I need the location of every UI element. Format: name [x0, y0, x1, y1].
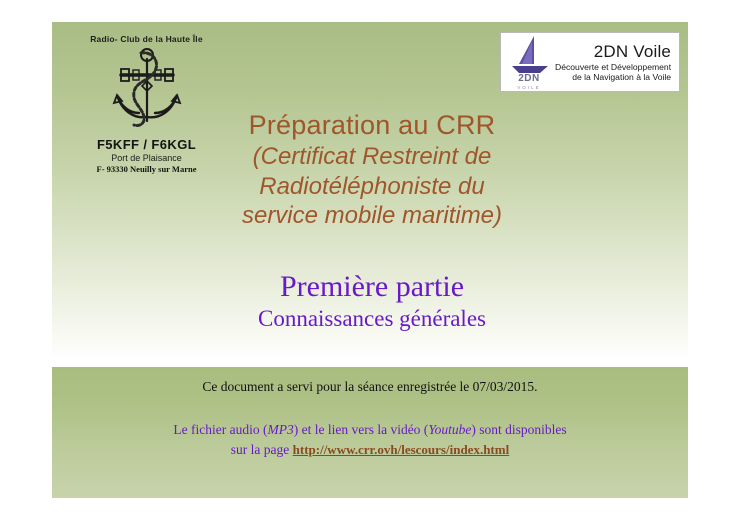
subtitle-part: Première partie — [162, 270, 582, 303]
title-line-1: Préparation au CRR — [172, 110, 572, 141]
availability-mid: ) et le lien vers la vidéo ( — [294, 422, 429, 437]
title-line-4: service mobile maritime) — [172, 201, 572, 230]
subtitle-topic: Connaissances générales — [162, 305, 582, 333]
availability-youtube: Youtube — [428, 422, 471, 437]
course-page-link[interactable]: http://www.crr.ovh/lescours/index.html — [293, 442, 510, 457]
partner-tagline-2: de la Navigation à la Voile — [555, 72, 671, 82]
lower-panel: Ce document a servi pour la séance enreg… — [52, 367, 688, 498]
slide-canvas: Radio- Club de la Haute Île — [52, 22, 688, 498]
footer-block: Ce document a servi pour la séance enreg… — [52, 367, 688, 461]
availability-pre: Le fichier audio ( — [173, 422, 267, 437]
footer-availability: Le fichier audio (MP3) et le lien vers l… — [52, 420, 688, 461]
upper-panel: Radio- Club de la Haute Île — [52, 22, 688, 360]
partner-title: 2DN Voile — [555, 42, 671, 62]
partner-logo-text: 2DN Voile Découverte et Développement de… — [555, 42, 675, 82]
slide-title: Préparation au CRR (Certificat Restreint… — [172, 110, 572, 230]
slide-subtitle: Première partie Connaissances générales — [162, 270, 582, 333]
partner-logo-2dn-voile: 2DN VOILE 2DN Voile Découverte et Dévelo… — [500, 32, 680, 92]
page-prefix: sur la page — [231, 442, 293, 457]
title-line-3: Radiotéléphoniste du — [172, 172, 572, 201]
partner-tagline-1: Découverte et Développement — [555, 62, 671, 72]
availability-post: ) sont disponibles — [471, 422, 566, 437]
club-heading: Radio- Club de la Haute Île — [64, 34, 229, 44]
availability-mp3: MP3 — [267, 422, 293, 437]
partner-mark-sub: VOILE — [503, 85, 555, 90]
footer-notice: Ce document a servi pour la séance enreg… — [52, 379, 688, 395]
title-line-2: (Certificat Restreint de — [172, 142, 572, 171]
sailboat-icon: 2DN VOILE — [503, 34, 555, 90]
partner-mark-label: 2DN — [503, 73, 555, 84]
